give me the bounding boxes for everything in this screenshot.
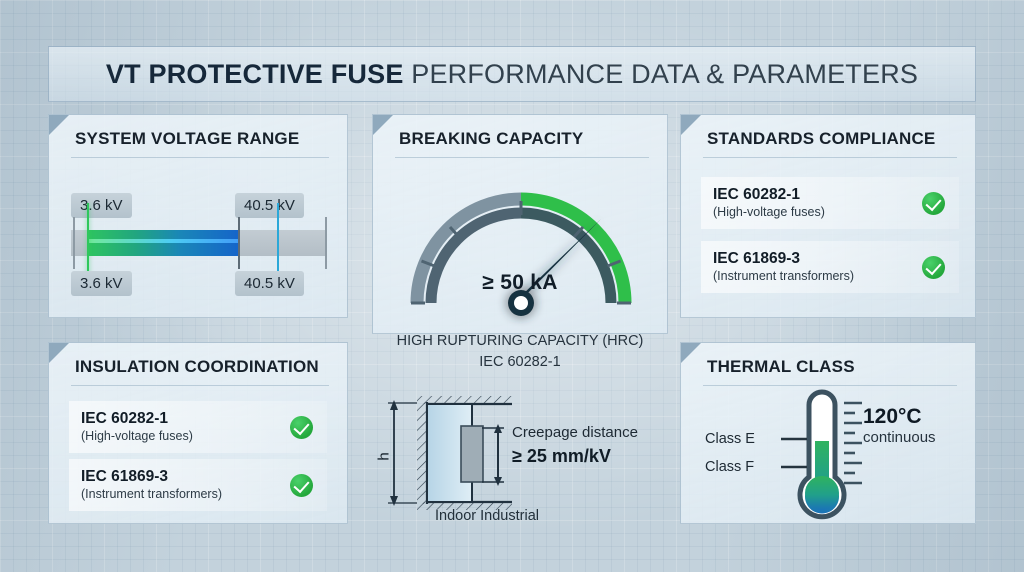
heading-divider <box>703 157 957 158</box>
voltage-max-label-top: 40.5 kV <box>235 193 304 218</box>
thermal-value-sub: continuous <box>863 429 936 446</box>
thermal-value: 120°C <box>863 405 922 429</box>
slider-tick-left-edge <box>73 217 75 269</box>
class-f-label: Class F <box>705 459 754 475</box>
check-circle-icon <box>922 192 945 215</box>
standard-description: (High-voltage fuses) <box>713 204 922 220</box>
creepage-label-line1: Creepage distance <box>512 424 638 441</box>
standards-row-text: IEC 60282-1 (High-voltage fuses) <box>701 186 922 220</box>
gauge-caption: HIGH RUPTURING CAPACITY (HRC) IEC 60282-… <box>373 331 667 372</box>
creepage-label-line2: ≥ 25 mm/kV <box>512 446 611 467</box>
corner-accent-icon <box>681 343 701 363</box>
panel-system-voltage-range: SYSTEM VOLTAGE RANGE 3.6 kV 40.5 kV 3.6 … <box>48 114 348 318</box>
slider-marker-max[interactable] <box>238 217 240 269</box>
thermometer-bulb <box>805 476 839 510</box>
class-e-label: Class E <box>705 431 755 447</box>
corner-accent-icon <box>49 343 69 363</box>
check-circle-icon <box>922 256 945 279</box>
standards-row[interactable]: IEC 60282-1 (High-voltage fuses) <box>701 177 959 229</box>
wall-hatch-top <box>417 396 512 404</box>
standard-code: IEC 60282-1 <box>81 410 290 428</box>
height-dimension-label: h <box>376 452 393 460</box>
standard-description: (Instrument transformers) <box>713 268 922 284</box>
standards-row[interactable]: IEC 61869-3 (Instrument transformers) <box>701 241 959 293</box>
heading-divider <box>71 157 329 158</box>
fuse-element <box>461 426 483 482</box>
page-title: VT PROTECTIVE FUSE PERFORMANCE DATA & PA… <box>106 59 918 90</box>
slider-tick-right-edge <box>325 217 327 269</box>
standard-code: IEC 60282-1 <box>713 186 922 204</box>
standards-row-text: IEC 61869-3 (Instrument transformers) <box>701 250 922 284</box>
panel-heading-thermal: THERMAL CLASS <box>707 357 955 377</box>
thermometer-svg <box>681 389 977 525</box>
page-title-bar: VT PROTECTIVE FUSE PERFORMANCE DATA & PA… <box>48 46 976 102</box>
thermometer-graphic: Class E Class F 120°C continuous <box>681 389 975 525</box>
thermometer-scale <box>844 403 862 483</box>
corner-accent-icon <box>49 115 69 135</box>
voltage-range-slider[interactable]: 3.6 kV 40.5 kV 3.6 kV 40.5 kV <box>49 167 347 317</box>
corner-accent-icon <box>373 115 393 135</box>
panel-insulation-coordination: INSULATION COORDINATION IEC 60282-1 (Hig… <box>48 342 348 524</box>
insulation-row[interactable]: IEC 61869-3 (Instrument transformers) <box>69 459 327 511</box>
page-title-light: PERFORMANCE DATA & PARAMETERS <box>404 59 919 89</box>
panel-standards-compliance: STANDARDS COMPLIANCE IEC 60282-1 (High-v… <box>680 114 976 318</box>
panel-breaking-capacity: BREAKING CAPACITY <box>372 114 668 334</box>
gauge-value-label: ≥ 50 kA <box>373 271 667 295</box>
heading-divider <box>71 385 329 386</box>
slider-fill <box>87 230 238 256</box>
breaking-capacity-gauge: ≥ 50 kA HIGH RUPTURING CAPACITY (HRC) IE… <box>373 163 667 333</box>
panel-heading-voltage: SYSTEM VOLTAGE RANGE <box>75 129 327 149</box>
creepage-distance-diagram: h Creepage distance ≥ 25 mm/kV Indoor In… <box>372 386 668 534</box>
voltage-min-label-top: 3.6 kV <box>71 193 132 218</box>
insulation-row-text: IEC 60282-1 (High-voltage fuses) <box>69 410 290 444</box>
panel-heading-insulation: INSULATION COORDINATION <box>75 357 327 377</box>
creepage-caption: Indoor Industrial <box>372 508 602 524</box>
gauge-needle <box>508 219 601 316</box>
standard-description: (High-voltage fuses) <box>81 428 290 444</box>
voltage-max-label-bottom: 40.5 kV <box>235 271 304 296</box>
corner-accent-icon <box>681 115 701 135</box>
standard-code: IEC 61869-3 <box>81 468 290 486</box>
gauge-caption-line1: HIGH RUPTURING CAPACITY (HRC) <box>373 331 667 352</box>
heading-divider <box>395 157 649 158</box>
wall-hatch-left <box>417 402 427 504</box>
gauge-caption-line2: IEC 60282-1 <box>373 352 667 373</box>
panel-thermal-class: THERMAL CLASS <box>680 342 976 524</box>
heading-divider <box>703 385 957 386</box>
page-title-strong: VT PROTECTIVE FUSE <box>106 59 404 89</box>
gauge-svg <box>373 163 669 333</box>
standard-description: (Instrument transformers) <box>81 486 290 502</box>
panel-heading-standards: STANDARDS COMPLIANCE <box>707 129 955 149</box>
panel-heading-breaking: BREAKING CAPACITY <box>399 129 647 149</box>
insulation-row[interactable]: IEC 60282-1 (High-voltage fuses) <box>69 401 327 453</box>
check-circle-icon <box>290 474 313 497</box>
standard-code: IEC 61869-3 <box>713 250 922 268</box>
check-circle-icon <box>290 416 313 439</box>
insulation-row-text: IEC 61869-3 (Instrument transformers) <box>69 468 290 502</box>
voltage-min-label-bottom: 3.6 kV <box>71 271 132 296</box>
